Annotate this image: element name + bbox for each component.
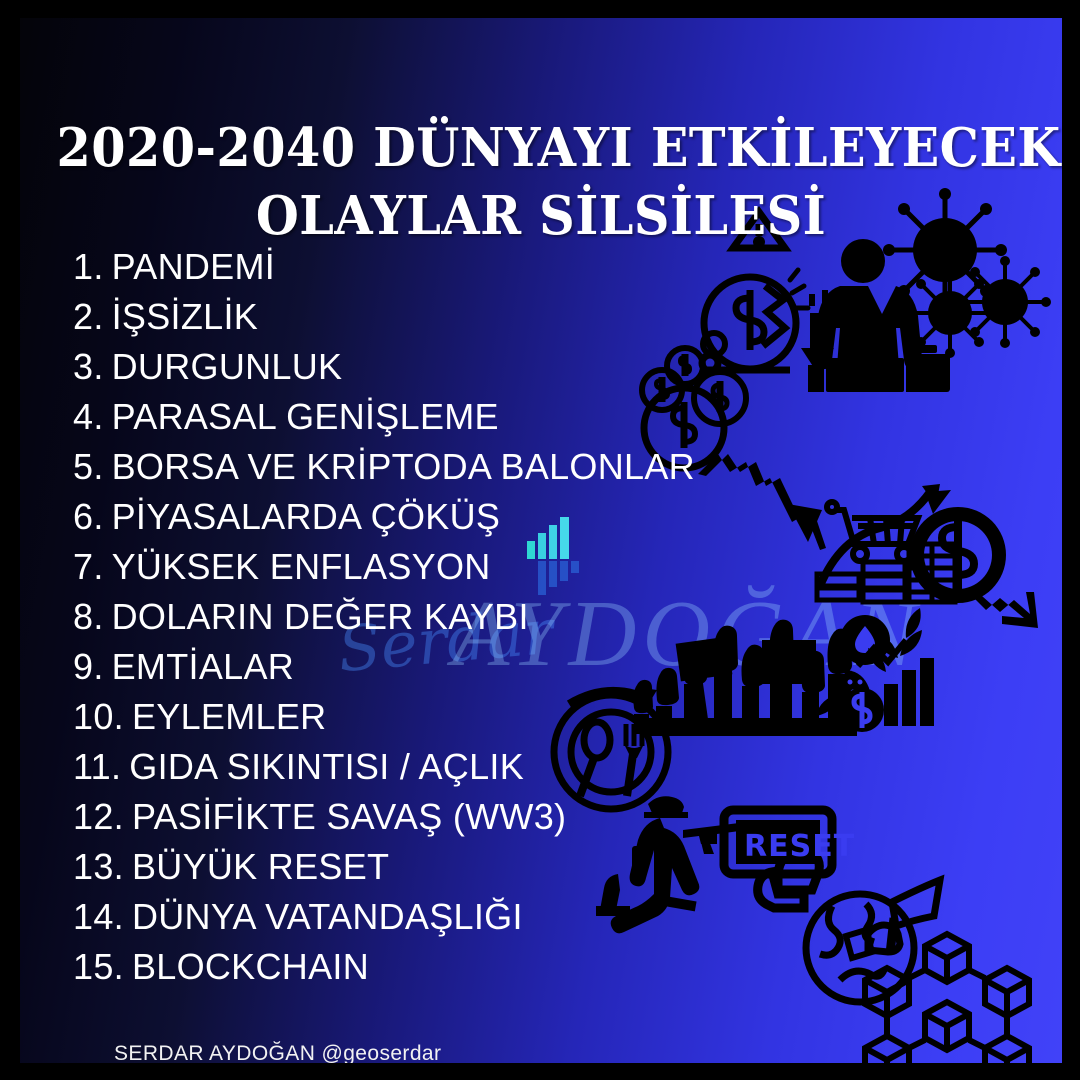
list-item: 11.GIDA SIKINTISI / AÇLIK [73, 742, 773, 792]
poster-root: Serdar AYDOĞAN [0, 0, 1080, 1080]
list-item-label: YÜKSEK ENFLASYON [112, 546, 491, 587]
list-item-number: 13. [73, 846, 124, 887]
list-item-number: 4. [73, 396, 104, 437]
author-credit: SERDAR AYDOĞAN @geoserdar [114, 1042, 441, 1063]
list-item-label: BORSA VE KRİPTODA BALONLAR [112, 446, 695, 487]
list-item: 8.DOLARIN DEĞER KAYBI [73, 592, 773, 642]
list-item-label: BLOCKCHAIN [132, 946, 369, 987]
list-item-number: 11. [73, 746, 121, 787]
list-item-number: 9. [73, 646, 104, 687]
bar-chart-logo-icon [525, 515, 595, 605]
list-item-number: 15. [73, 946, 124, 987]
list-item: 2.İŞSİZLİK [73, 292, 773, 342]
list-item: 4.PARASAL GENİŞLEME [73, 392, 773, 442]
list-item: 14.DÜNYA VATANDAŞLIĞI [73, 892, 773, 942]
list-item-label: İŞSİZLİK [112, 296, 258, 337]
list-item-number: 7. [73, 546, 104, 587]
briefcase-icon [906, 345, 950, 392]
page-title: 2020-2040 DÜNYAYI ETKİLEYECEK OLAYLAR Sİ… [56, 114, 1025, 250]
dollar-coin-decline-icon [910, 507, 1038, 628]
list-item-number: 14. [73, 896, 124, 937]
list-item-label: DÜNYA VATANDAŞLIĞI [132, 896, 523, 937]
list-item-number: 8. [73, 596, 104, 637]
list-item: 1.PANDEMİ [73, 242, 773, 292]
list-item-label: PASİFİKTE SAVAŞ (WW3) [132, 796, 566, 837]
list-item-label: DURGUNLUK [112, 346, 343, 387]
stressed-businessman-icon [808, 239, 922, 392]
blockchain-network-icon [865, 934, 1029, 1063]
list-item-number: 12. [73, 796, 124, 837]
list-item-number: 6. [73, 496, 104, 537]
title-line-1: 2020-2040 DÜNYAYI ETKİLEYECEK [56, 114, 1025, 182]
list-item-number: 2. [73, 296, 104, 337]
list-item: 3.DURGUNLUK [73, 342, 773, 392]
list-item: 7.YÜKSEK ENFLASYON [73, 542, 773, 592]
title-line-2: OLAYLAR SİLSİLESİ [56, 182, 1025, 250]
globe-flag-icon [806, 880, 940, 1002]
coin-stack-icon [817, 544, 955, 602]
list-item-number: 5. [73, 446, 104, 487]
list-item: 10.EYLEMLER [73, 692, 773, 742]
list-item-label: BÜYÜK RESET [132, 846, 389, 887]
list-item: 12.PASİFİKTE SAVAŞ (WW3) [73, 792, 773, 842]
list-item-label: PANDEMİ [112, 246, 275, 287]
impact-lines-icon [790, 270, 808, 308]
list-item: 13.BÜYÜK RESET [73, 842, 773, 892]
poster-canvas: Serdar AYDOĞAN [20, 18, 1062, 1063]
list-item-number: 1. [73, 246, 104, 287]
list-item: 5.BORSA VE KRİPTODA BALONLAR [73, 442, 773, 492]
list-item-label: PİYASALARDA ÇÖKÜŞ [112, 496, 501, 537]
list-item-number: 10. [73, 696, 124, 737]
commodities-icon [816, 608, 934, 732]
list-item-label: EYLEMLER [132, 696, 326, 737]
down-arrow-icon [801, 290, 834, 374]
shopping-cart-rising-arrow-icon [820, 484, 951, 586]
list-item-label: DOLARIN DEĞER KAYBI [112, 596, 529, 637]
list-item-label: GIDA SIKINTISI / AÇLIK [129, 746, 524, 787]
list-item: 6.PİYASALARDA ÇÖKÜŞ [73, 492, 773, 542]
list-item: 9.EMTİALAR [73, 642, 773, 692]
list-item-number: 3. [73, 346, 104, 387]
list-item-label: PARASAL GENİŞLEME [112, 396, 499, 437]
list-item-label: EMTİALAR [112, 646, 294, 687]
events-list: 1.PANDEMİ 2.İŞSİZLİK 3.DURGUNLUK 4.PARAS… [73, 242, 773, 992]
list-item: 15.BLOCKCHAIN [73, 942, 773, 992]
